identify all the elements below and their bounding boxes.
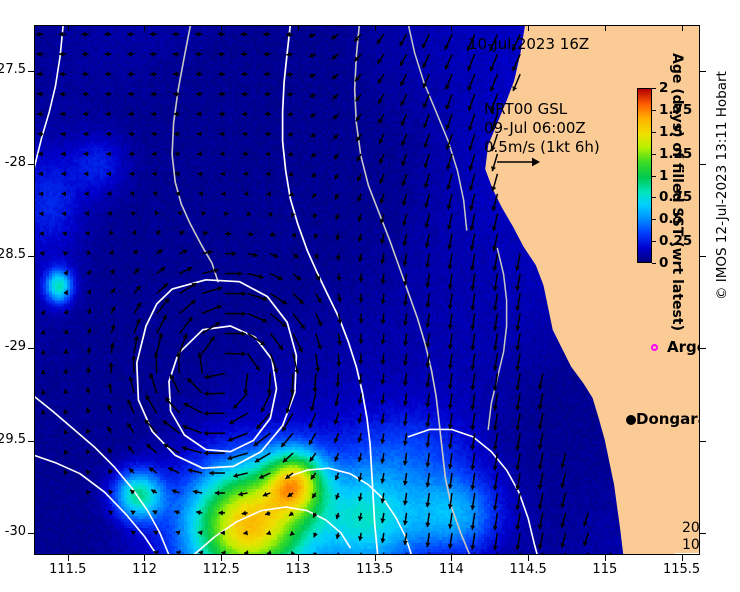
current-vector xyxy=(470,393,475,410)
current-vector xyxy=(244,550,249,555)
current-vector xyxy=(62,231,67,236)
current-vector xyxy=(354,34,361,41)
current-vector xyxy=(425,254,430,268)
current-vector xyxy=(293,253,298,258)
current-vector xyxy=(127,423,134,433)
y-axis-tick xyxy=(28,533,34,534)
current-vector xyxy=(133,250,138,255)
current-vector xyxy=(130,171,135,176)
current-vector xyxy=(289,172,294,177)
current-vector xyxy=(381,313,386,324)
y-axis-label: -27.5 xyxy=(0,62,26,77)
current-vector xyxy=(155,211,160,216)
current-vector xyxy=(583,513,588,526)
current-vector xyxy=(403,513,408,525)
current-vector xyxy=(356,94,362,101)
current-vector xyxy=(248,294,268,302)
current-vector xyxy=(336,274,341,282)
current-vector xyxy=(60,111,66,116)
current-vector xyxy=(108,426,113,433)
current-vector xyxy=(290,373,295,394)
current-vector xyxy=(538,453,543,469)
current-vector xyxy=(425,413,430,427)
current-vector xyxy=(336,254,341,261)
map-plot-area[interactable]: 10-Jul-2023 16Z NRT00 GSL 09-Jul 06:00Z … xyxy=(34,25,700,555)
current-vector xyxy=(149,468,157,473)
current-vector xyxy=(83,111,89,116)
current-vector xyxy=(61,151,66,156)
current-vector xyxy=(40,231,44,236)
current-vector xyxy=(228,433,248,442)
y-axis-label: -29.5 xyxy=(0,432,26,447)
y-axis-tick-right xyxy=(700,348,706,349)
current-vector xyxy=(355,54,361,61)
current-vector xyxy=(64,430,69,435)
current-vector xyxy=(448,373,453,389)
current-vector xyxy=(108,383,113,393)
current-vector xyxy=(176,191,181,196)
current-vector xyxy=(157,298,169,313)
current-vector xyxy=(337,313,342,323)
current-vector xyxy=(493,433,498,450)
current-vector xyxy=(380,453,385,463)
current-vector xyxy=(179,249,187,254)
current-vector xyxy=(41,370,46,374)
current-vector xyxy=(220,131,225,136)
current-vector xyxy=(287,72,293,77)
current-vector xyxy=(470,373,475,390)
current-vector xyxy=(157,333,163,353)
current-vector xyxy=(512,74,520,91)
current-vector xyxy=(447,214,452,230)
current-vector xyxy=(444,34,452,50)
gsl-line-2: 09-Jul 06:00Z xyxy=(484,119,600,138)
current-vector xyxy=(150,52,157,57)
current-vector xyxy=(448,413,453,429)
current-vector xyxy=(358,294,363,303)
current-vector xyxy=(310,93,316,98)
current-vector xyxy=(493,533,498,550)
current-vector xyxy=(36,32,43,37)
current-vector xyxy=(153,510,158,515)
current-vector xyxy=(241,32,248,37)
current-vector xyxy=(424,174,429,188)
current-vector xyxy=(168,467,179,473)
current-vector xyxy=(105,72,111,77)
current-vector xyxy=(270,333,283,350)
current-vector xyxy=(515,493,520,510)
current-vector xyxy=(177,211,182,216)
current-vector xyxy=(400,34,407,46)
current-vector xyxy=(448,353,453,369)
current-vector xyxy=(403,254,408,266)
current-vector xyxy=(209,471,225,476)
x-axis-tick-top xyxy=(528,25,529,31)
current-vector xyxy=(538,373,543,389)
current-vector xyxy=(291,551,296,555)
current-vector xyxy=(219,72,225,77)
current-vector xyxy=(337,294,342,303)
copyright-notice: © IMOS 12-Jul-2023 13:11 Hobart xyxy=(714,71,730,300)
current-vector xyxy=(131,212,136,217)
current-vector xyxy=(84,191,88,196)
current-vector xyxy=(358,533,363,541)
current-vector xyxy=(470,433,475,450)
current-vector xyxy=(515,333,520,350)
current-vector xyxy=(196,72,202,77)
x-axis-label: 114.5 xyxy=(493,562,563,577)
current-vector xyxy=(538,433,543,449)
current-vector xyxy=(425,513,430,527)
current-vector xyxy=(110,288,114,293)
current-vector xyxy=(403,294,408,306)
current-vector xyxy=(515,254,520,271)
current-vector xyxy=(378,114,383,124)
current-vector xyxy=(538,393,543,409)
current-vector xyxy=(41,330,46,335)
current-vector xyxy=(152,171,156,176)
current-vector xyxy=(380,473,385,483)
current-vector xyxy=(515,533,520,550)
current-vector xyxy=(173,72,179,77)
current-vector xyxy=(41,410,46,415)
current-vector xyxy=(146,395,157,413)
y-axis-tick-right xyxy=(700,533,706,534)
current-vector xyxy=(110,343,115,353)
current-vector xyxy=(128,72,134,77)
current-vector xyxy=(62,211,66,216)
current-vector xyxy=(179,283,196,293)
current-vector xyxy=(335,234,340,240)
current-vector xyxy=(356,134,361,141)
current-vector xyxy=(265,111,271,116)
x-axis-label: 112 xyxy=(109,562,179,577)
current-vector xyxy=(333,114,338,119)
current-vector xyxy=(470,254,475,271)
current-vector xyxy=(424,154,430,168)
current-vector xyxy=(467,54,475,71)
current-vector xyxy=(381,294,386,304)
current-vector xyxy=(381,333,386,344)
x-axis-label: 115.5 xyxy=(647,562,717,577)
current-vector xyxy=(380,413,385,424)
current-vector xyxy=(41,310,46,315)
depth-contour-legend: 200m 1000m xyxy=(682,520,700,554)
current-vector xyxy=(244,191,249,196)
current-vector xyxy=(184,403,202,413)
current-vector xyxy=(246,211,251,216)
x-axis-tick xyxy=(68,555,69,561)
current-vector xyxy=(403,533,408,545)
current-vector xyxy=(225,351,246,356)
x-axis-tick-top xyxy=(605,25,606,31)
current-vector xyxy=(380,553,385,555)
current-vector xyxy=(425,433,430,447)
current-vector xyxy=(378,74,384,84)
current-vector xyxy=(157,250,163,255)
y-axis-tick-right xyxy=(700,441,706,442)
current-vector xyxy=(265,151,270,156)
current-vector xyxy=(470,313,475,330)
current-vector xyxy=(201,212,206,217)
current-vector xyxy=(468,134,475,151)
current-vector xyxy=(86,367,91,373)
current-vector xyxy=(267,550,272,555)
current-vector xyxy=(41,350,46,354)
current-vector xyxy=(106,111,112,116)
current-vector xyxy=(61,171,66,176)
current-vector xyxy=(448,433,453,449)
current-vector xyxy=(173,52,180,57)
current-vector xyxy=(204,451,225,456)
current-vector xyxy=(560,533,565,548)
current-vector xyxy=(218,52,225,57)
x-axis-tick-top xyxy=(144,25,145,31)
y-axis-tick xyxy=(28,441,34,442)
current-vector xyxy=(265,131,270,136)
current-vector xyxy=(59,32,66,37)
current-vector xyxy=(40,251,45,256)
current-vector xyxy=(157,315,167,334)
colorbar-tick xyxy=(652,154,656,155)
current-vector xyxy=(313,513,318,518)
current-vector xyxy=(401,134,407,146)
current-vector xyxy=(289,192,294,197)
current-vector xyxy=(358,493,363,501)
current-vector xyxy=(493,513,498,530)
current-vector xyxy=(470,333,475,350)
current-vector xyxy=(288,132,293,137)
current-vector xyxy=(219,92,225,97)
current-vector xyxy=(264,52,271,57)
current-vector xyxy=(221,530,225,535)
colorbar-tick xyxy=(652,219,656,220)
current-vector xyxy=(179,317,192,334)
current-vector xyxy=(493,453,498,470)
current-vector xyxy=(109,250,114,255)
current-vector xyxy=(403,413,408,425)
current-vector xyxy=(109,511,114,516)
current-vector xyxy=(255,453,270,462)
current-vector xyxy=(448,333,453,349)
current-vector xyxy=(425,393,430,407)
current-vector xyxy=(63,330,68,335)
current-vector xyxy=(87,328,92,334)
current-vector xyxy=(358,553,363,555)
current-vector xyxy=(470,513,475,530)
current-vector xyxy=(403,493,408,505)
current-vector xyxy=(248,274,264,280)
current-vector xyxy=(446,154,452,170)
current-vector xyxy=(293,274,301,281)
current-vector xyxy=(261,393,271,412)
current-vector xyxy=(174,510,179,515)
current-vector xyxy=(380,234,385,244)
current-vector xyxy=(202,250,212,255)
current-vector xyxy=(106,131,111,136)
current-vector xyxy=(381,274,386,284)
current-vector xyxy=(357,154,362,162)
current-vector xyxy=(358,373,363,384)
current-vector xyxy=(248,333,265,345)
current-vector xyxy=(358,254,363,262)
current-vector xyxy=(110,324,115,333)
current-vector xyxy=(270,253,278,258)
current-vector xyxy=(202,322,220,333)
current-vector xyxy=(267,191,272,196)
current-vector xyxy=(358,453,363,462)
current-vector xyxy=(286,52,293,57)
current-vector xyxy=(107,171,112,176)
current-vector xyxy=(448,473,453,489)
current-vector xyxy=(425,274,430,288)
current-vector xyxy=(198,352,203,373)
current-vector xyxy=(63,369,68,373)
current-vector xyxy=(316,274,321,281)
current-vector xyxy=(179,231,184,236)
current-vector xyxy=(60,92,66,97)
x-axis-tick xyxy=(298,555,299,561)
current-vector-overlay xyxy=(34,25,700,555)
current-vector xyxy=(109,362,114,373)
current-vector xyxy=(270,294,287,304)
current-vector xyxy=(335,513,340,519)
current-vector xyxy=(106,151,111,156)
current-vector xyxy=(268,212,273,217)
current-vector xyxy=(248,353,260,370)
current-vector xyxy=(425,493,430,507)
current-vector xyxy=(86,449,91,454)
current-vector xyxy=(468,94,475,111)
current-vector xyxy=(491,174,497,191)
current-vector xyxy=(134,268,139,273)
current-vector xyxy=(134,319,141,334)
current-vector xyxy=(64,450,69,455)
current-vector xyxy=(515,393,520,410)
current-vector xyxy=(153,191,158,196)
current-vector xyxy=(153,531,158,536)
current-vector xyxy=(219,510,225,515)
current-vector xyxy=(110,270,115,275)
current-vector xyxy=(285,473,293,479)
current-vector xyxy=(225,271,243,276)
current-vector xyxy=(493,473,498,490)
current-vector xyxy=(87,309,92,314)
current-vector xyxy=(187,378,202,393)
current-vector xyxy=(242,111,248,116)
current-vector xyxy=(182,425,202,433)
current-vector xyxy=(560,493,565,508)
current-vector xyxy=(38,131,43,136)
current-vector xyxy=(157,267,166,273)
current-vector xyxy=(422,54,429,68)
current-vector xyxy=(199,191,204,196)
current-vector xyxy=(163,421,180,434)
current-vector xyxy=(333,134,338,139)
current-vector xyxy=(129,131,134,136)
current-vector xyxy=(128,446,134,453)
current-vector xyxy=(331,34,338,39)
current-vector xyxy=(379,134,384,144)
current-vector xyxy=(152,151,157,156)
y-axis-tick-right xyxy=(700,256,706,257)
current-vector xyxy=(248,232,254,237)
current-vector xyxy=(242,131,247,136)
current-vector xyxy=(335,493,340,500)
current-vector xyxy=(470,553,475,555)
current-vector xyxy=(86,250,91,254)
current-vector xyxy=(151,92,157,97)
y-axis-tick xyxy=(28,348,34,349)
current-vector xyxy=(243,151,248,156)
current-vector xyxy=(425,313,430,327)
current-vector xyxy=(176,551,181,556)
current-vector xyxy=(335,473,340,480)
current-vector xyxy=(492,254,497,271)
current-vector xyxy=(515,294,520,311)
current-vector xyxy=(108,469,113,474)
current-vector xyxy=(316,313,322,326)
current-vector xyxy=(401,114,407,126)
x-axis-label: 112.5 xyxy=(186,562,256,577)
current-vector xyxy=(538,553,543,555)
current-vector xyxy=(293,353,299,373)
current-vector xyxy=(335,533,340,539)
current-vector xyxy=(134,336,139,353)
current-vector xyxy=(403,274,408,286)
current-vector xyxy=(422,34,429,48)
current-vector xyxy=(403,373,408,386)
current-vector xyxy=(270,313,286,327)
current-vector xyxy=(469,214,474,231)
current-vector xyxy=(39,191,43,196)
current-vector xyxy=(469,194,475,211)
current-vector xyxy=(423,134,429,148)
current-vector xyxy=(334,413,339,424)
current-vector xyxy=(403,353,408,365)
current-vector xyxy=(204,391,225,396)
current-vector xyxy=(312,193,317,198)
current-vector xyxy=(425,333,430,347)
current-vector xyxy=(129,468,134,473)
current-vector xyxy=(242,92,248,97)
current-vector xyxy=(490,54,498,71)
x-axis-tick-top xyxy=(221,25,222,31)
current-vector xyxy=(423,114,429,128)
current-vector xyxy=(86,290,91,295)
current-vector xyxy=(334,154,339,159)
x-axis-label: 115 xyxy=(570,562,640,577)
current-vector xyxy=(446,114,453,130)
current-vector xyxy=(335,214,340,220)
current-vector xyxy=(60,72,66,77)
current-vector xyxy=(291,233,296,238)
current-vector xyxy=(82,32,89,37)
current-vector xyxy=(400,94,406,106)
current-vector xyxy=(195,32,202,37)
y-axis-tick-right xyxy=(700,164,706,165)
current-vector xyxy=(241,72,247,77)
current-vector xyxy=(264,92,270,97)
current-vector xyxy=(380,393,385,404)
current-vector xyxy=(355,74,361,81)
current-vector xyxy=(425,353,430,367)
current-vector xyxy=(127,32,134,37)
current-vector xyxy=(83,92,89,97)
current-vector xyxy=(84,151,89,156)
current-vector xyxy=(233,473,247,478)
current-vector xyxy=(469,154,475,171)
